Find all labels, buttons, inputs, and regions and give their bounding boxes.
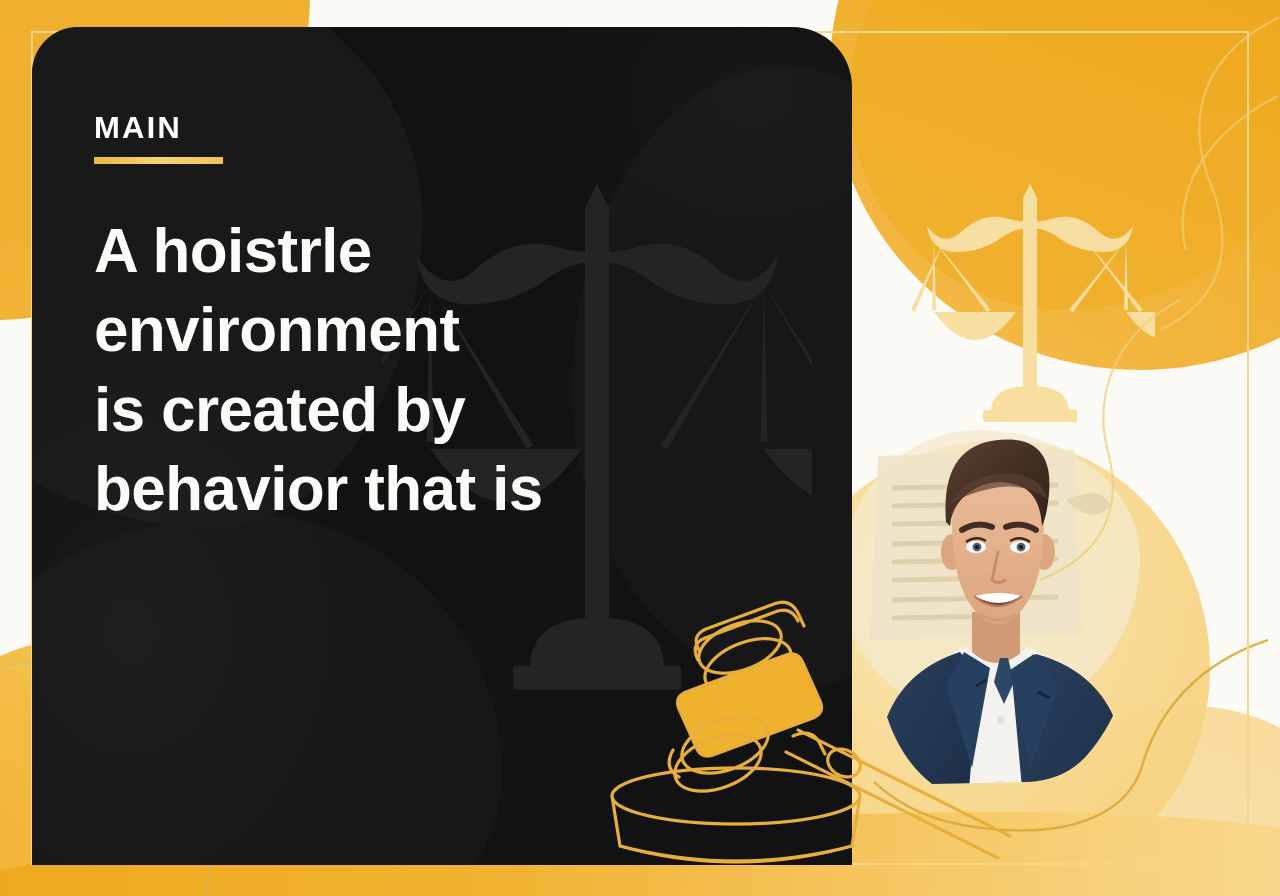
headline-line: environment xyxy=(94,291,794,370)
scales-of-justice-icon xyxy=(905,180,1155,430)
headline-text: A hoistrleenvironmentis created bybehavi… xyxy=(94,212,794,529)
card-wave-shape-2 xyxy=(32,515,502,865)
pale-blob-bottom-right xyxy=(1010,706,1280,896)
dark-content-card: MAIN A hoistrleenvironmentis created byb… xyxy=(32,27,852,865)
amber-blob-top-right-2 xyxy=(850,0,1280,310)
eyebrow-label: MAIN xyxy=(94,112,794,143)
headline-line: A hoistrle xyxy=(94,212,794,291)
amber-blob-top-right xyxy=(830,0,1280,370)
portrait-photo-smiling-man-navy-suit xyxy=(848,402,1192,854)
document-lines-icon xyxy=(860,448,1110,648)
pale-blob-document-backdrop xyxy=(840,430,1140,720)
headline-line: is created by xyxy=(94,371,794,450)
headline-line: behavior that is xyxy=(94,450,794,529)
eyebrow-underline-rule xyxy=(94,157,223,164)
poster-canvas: MAIN A hoistrleenvironmentis created byb… xyxy=(0,0,1280,896)
card-text-block: MAIN A hoistrleenvironmentis created byb… xyxy=(94,112,794,529)
